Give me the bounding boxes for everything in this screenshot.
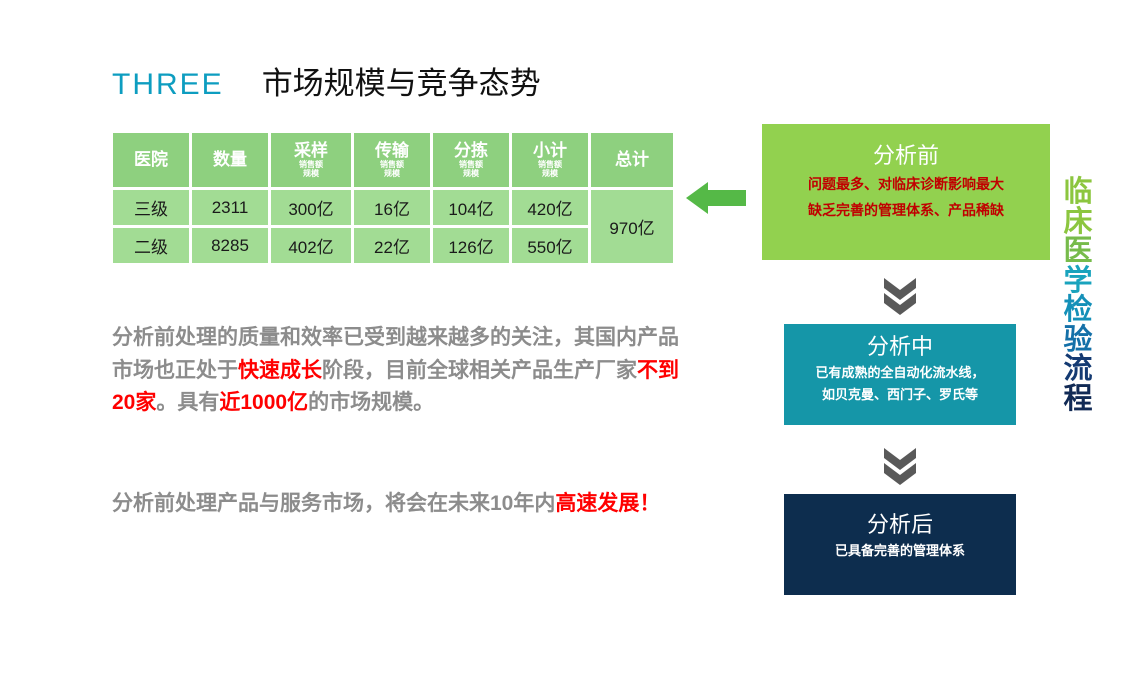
flow-box-post-analysis[interactable]: 分析后 已具备完善的管理体系 (784, 494, 1016, 595)
column-header-subtotal-sub-2: 规模 (512, 170, 588, 178)
column-header-transport-label: 传输 (354, 142, 430, 160)
text-segment: 分析前处理产品与服务市场，将会在未来10年内 (112, 492, 555, 515)
highlight-high-speed-development: 高速发展！ (555, 492, 660, 515)
flow-box-post-analysis-title: 分析后 (784, 512, 1016, 538)
cell-count: 8285 (192, 228, 268, 263)
paragraph-future-outlook: 分析前处理产品与服务市场，将会在未来10年内高速发展！ (112, 488, 692, 521)
flow-box-pre-analysis-desc-2: 缺乏完善的管理体系、产品稀缺 (762, 202, 1050, 221)
table-row: 二级 8285 402亿 22亿 126亿 550亿 (113, 228, 673, 263)
column-header-transport-sub-1: 销售额 (354, 161, 430, 169)
column-header-sampling-sub-2: 规模 (271, 170, 351, 178)
column-header-sampling-label: 采样 (271, 142, 351, 160)
cell-grand-total: 970亿 (591, 190, 673, 263)
column-header-hospital: 医院 (113, 133, 189, 187)
section-kicker: THREE (112, 70, 224, 100)
cell-hospital: 三级 (113, 190, 189, 225)
table-row: 三级 2311 300亿 16亿 104亿 420亿 970亿 (113, 190, 673, 225)
column-header-transport: 传输 销售额 规模 (354, 133, 430, 187)
flow-box-in-analysis-desc-1: 已有成熟的全自动化流水线， (784, 364, 1016, 381)
column-header-grand-total: 总计 (591, 133, 673, 187)
cell-hospital: 二级 (113, 228, 189, 263)
double-chevron-down-icon (884, 276, 916, 316)
vertical-label-char: 程 (1063, 385, 1092, 415)
flow-box-pre-analysis-desc-1: 问题最多、对临床诊断影响最大 (762, 176, 1050, 195)
column-header-sampling: 采样 销售额 规模 (271, 133, 351, 187)
column-header-sorting-sub-1: 销售额 (433, 161, 509, 169)
flow-box-in-analysis-title: 分析中 (784, 334, 1016, 360)
cell-subtotal: 550亿 (512, 228, 588, 263)
column-header-sorting: 分拣 销售额 规模 (433, 133, 509, 187)
cell-count: 2311 (192, 190, 268, 225)
cell-sorting: 126亿 (433, 228, 509, 263)
column-header-sorting-sub-2: 规模 (433, 170, 509, 178)
column-header-grand-total-label: 总计 (591, 151, 673, 169)
table-header: 医院 数量 采样 销售额 规模 传输 销售额 规模 分拣 销售额 规模 小计 (113, 133, 673, 187)
vertical-label-char: 验 (1063, 326, 1092, 356)
cell-transport: 16亿 (354, 190, 430, 225)
flow-box-pre-analysis-title: 分析前 (762, 143, 1050, 169)
column-header-sorting-label: 分拣 (433, 142, 509, 160)
cell-sorting: 104亿 (433, 190, 509, 225)
vertical-label-char: 医 (1063, 237, 1092, 267)
table-body: 三级 2311 300亿 16亿 104亿 420亿 970亿 二级 8285 … (113, 190, 673, 263)
column-header-subtotal-sub-1: 销售额 (512, 161, 588, 169)
flow-box-in-analysis-desc-2: 如贝克曼、西门子、罗氏等 (784, 386, 1016, 403)
cell-subtotal: 420亿 (512, 190, 588, 225)
page-heading: THREE 市场规模与竞争态势 (112, 68, 541, 100)
double-chevron-down-icon (884, 446, 916, 486)
vertical-label-char: 临 (1063, 178, 1092, 208)
table-header-row: 医院 数量 采样 销售额 规模 传输 销售额 规模 分拣 销售额 规模 小计 (113, 133, 673, 187)
green-left-arrow-icon (686, 178, 746, 218)
flow-box-post-analysis-desc-1: 已具备完善的管理体系 (784, 542, 1016, 559)
cell-sampling: 402亿 (271, 228, 351, 263)
vertical-label-clinical-lab-workflow: 临 床 医 学 检 验 流 程 (1058, 178, 1098, 415)
column-header-hospital-label: 医院 (113, 151, 189, 169)
column-header-transport-sub-2: 规模 (354, 170, 430, 178)
vertical-label-char: 检 (1063, 296, 1092, 326)
cell-sampling: 300亿 (271, 190, 351, 225)
column-header-count: 数量 (192, 133, 268, 187)
cell-transport: 22亿 (354, 228, 430, 263)
highlight-near-100b: 近1000亿 (219, 391, 308, 414)
paragraph-market-growth: 分析前处理的质量和效率已受到越来越多的关注，其国内产品市场也正处于快速成长阶段，… (112, 322, 692, 420)
vertical-label-char: 床 (1063, 208, 1092, 238)
column-header-subtotal-label: 小计 (512, 142, 588, 160)
column-header-sampling-sub-1: 销售额 (271, 161, 351, 169)
flow-box-pre-analysis[interactable]: 分析前 问题最多、对临床诊断影响最大 缺乏完善的管理体系、产品稀缺 (762, 124, 1050, 260)
page-title: 市场规模与竞争态势 (262, 68, 541, 99)
text-segment: 。具有 (156, 391, 219, 414)
flow-box-in-analysis[interactable]: 分析中 已有成熟的全自动化流水线， 如贝克曼、西门子、罗氏等 (784, 324, 1016, 425)
vertical-label-char: 学 (1063, 267, 1092, 297)
vertical-label-char: 流 (1063, 355, 1092, 385)
column-header-count-label: 数量 (192, 151, 268, 169)
text-segment: 的市场规模。 (308, 391, 434, 414)
highlight-rapid-growth: 快速成长 (238, 359, 322, 382)
text-segment: 阶段，目前全球相关产品生产厂家 (322, 359, 637, 382)
column-header-subtotal: 小计 销售额 规模 (512, 133, 588, 187)
market-size-table: 医院 数量 采样 销售额 规模 传输 销售额 规模 分拣 销售额 规模 小计 (110, 130, 676, 266)
